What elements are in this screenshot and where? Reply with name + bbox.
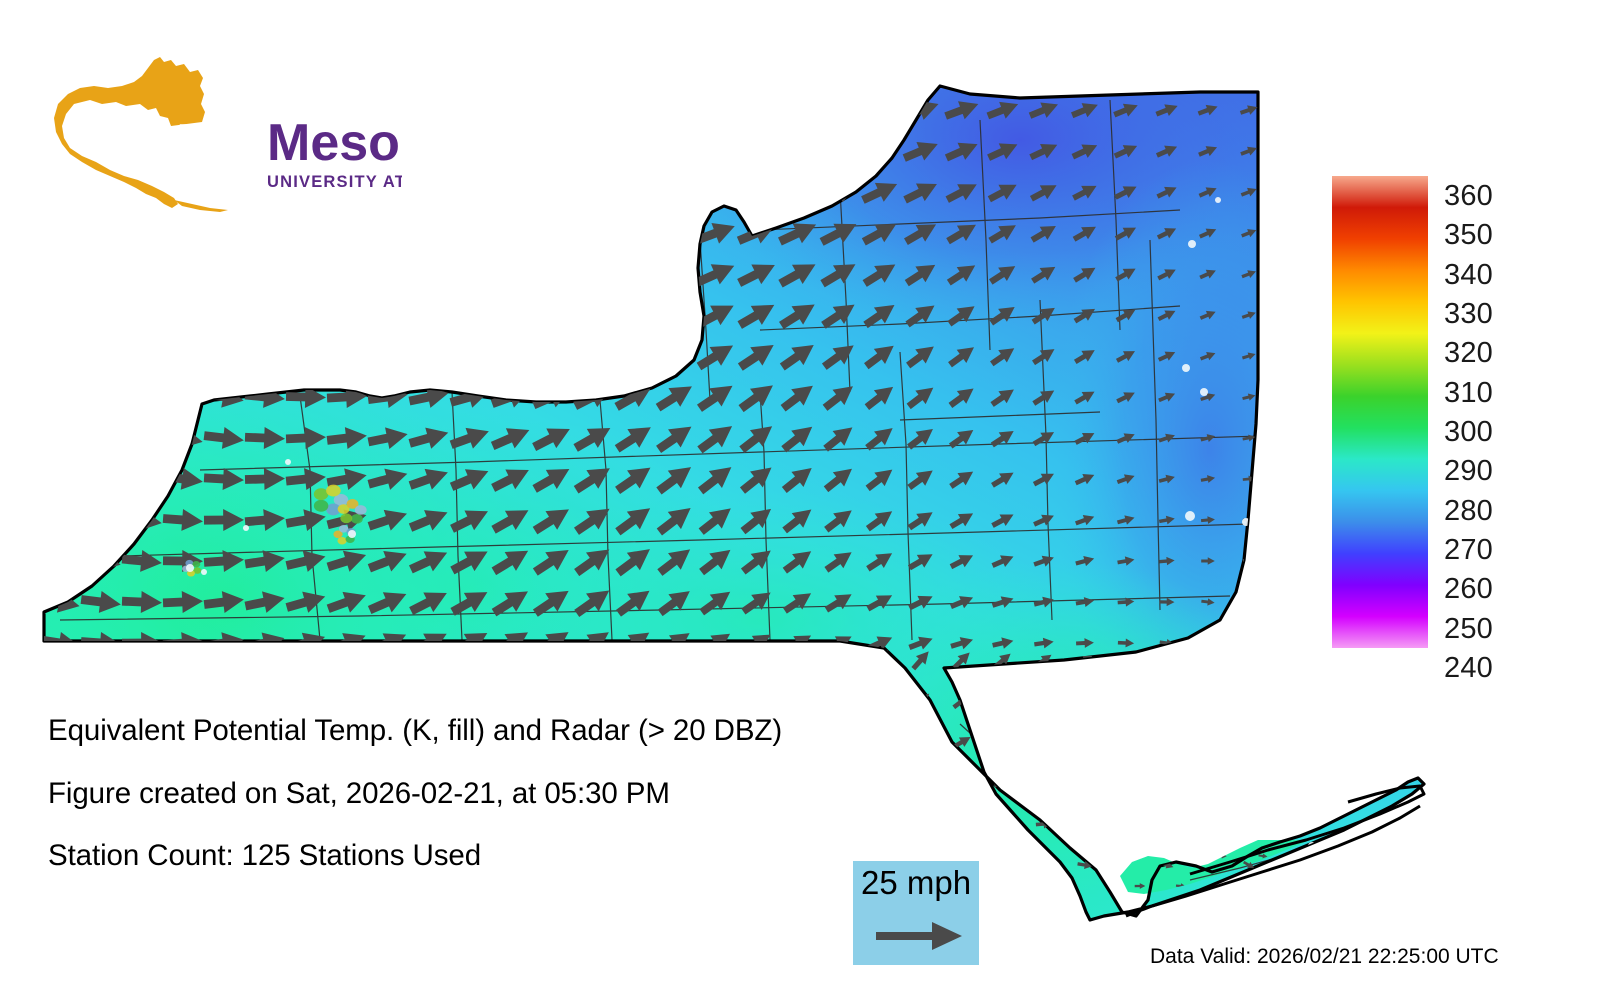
wind-arrow <box>449 97 491 124</box>
wind-arrow <box>612 257 657 290</box>
colorbar-tick-300: 300 <box>1444 418 1493 447</box>
wind-arrow <box>408 342 451 369</box>
radar-echo <box>355 505 367 515</box>
wind-arrow <box>119 256 165 292</box>
wind-arrow <box>78 133 123 169</box>
wind-arrow <box>119 174 164 210</box>
wind-arrow <box>408 221 449 245</box>
wind-arrow <box>776 95 820 126</box>
wind-arrow <box>571 218 614 247</box>
wind-arrow <box>120 380 165 414</box>
wind-arrow <box>489 340 533 372</box>
wind-arrow <box>243 342 286 370</box>
wind-arrow <box>572 179 614 206</box>
wind-arrow <box>409 263 449 285</box>
wind-arrow <box>571 258 615 289</box>
wind-speed-legend: 25 mph <box>853 861 979 965</box>
radar-echo <box>340 513 352 523</box>
wind-arrow <box>1160 696 1175 706</box>
wind-arrow <box>202 299 247 331</box>
wind-arrow <box>531 220 573 247</box>
wind-arrow <box>78 421 123 455</box>
radar-echo <box>326 485 341 497</box>
colorbar: 360350340330320310300290280270260250240 <box>1332 176 1492 650</box>
wind-arrow <box>243 134 288 167</box>
wind-arrow <box>201 175 246 209</box>
wind-arrow <box>1201 655 1215 665</box>
wind-arrow <box>613 138 655 164</box>
radar-echo-light <box>1182 364 1190 372</box>
wind-arrow <box>1159 654 1175 666</box>
wind-arrow <box>994 818 1013 830</box>
wind-arrow <box>1034 693 1054 710</box>
wind-arrow <box>37 296 83 335</box>
wind-arrow <box>325 136 369 167</box>
wind-arrow <box>573 99 613 121</box>
wind-arrow <box>449 262 490 287</box>
wind-arrow <box>78 338 124 375</box>
wind-arrow <box>1118 695 1135 707</box>
wind-arrow <box>119 339 164 374</box>
wind-arrow <box>366 95 410 124</box>
colorbar-tick-240: 240 <box>1444 654 1493 683</box>
wind-arrow <box>78 214 124 252</box>
wind-arrow <box>952 817 972 831</box>
wind-arrow <box>816 134 861 168</box>
wind-arrow <box>1201 819 1215 829</box>
wind-arrow <box>161 340 206 373</box>
wind-arrow <box>1176 853 1186 859</box>
wind-arrow <box>1201 779 1214 788</box>
wind-arrow <box>119 93 164 128</box>
wind-arrow <box>1160 819 1175 829</box>
wind-arrow <box>951 774 973 791</box>
wind-arrow <box>38 503 83 537</box>
wind-arrow <box>367 220 409 247</box>
caption-title: Equivalent Potential Temp. (K, fill) and… <box>48 716 948 746</box>
radar-echo-light <box>1188 240 1196 248</box>
wind-arrow <box>326 260 369 287</box>
wind-arrow <box>325 177 369 207</box>
wind-arrow <box>201 134 246 168</box>
wind-arrow <box>1340 882 1350 890</box>
wind-arrow <box>1076 694 1094 709</box>
wind-arrow <box>1201 638 1215 648</box>
wind-arrow <box>450 222 490 244</box>
radar-echo-light <box>186 564 194 572</box>
colorbar-tick-250: 250 <box>1444 615 1493 644</box>
wind-arrow <box>653 217 698 250</box>
wind-arrow <box>366 136 409 165</box>
figure-canvas: NYS Mesonet UNIVERSITY AT ALBANY <box>0 0 1600 1000</box>
wind-arrow <box>1258 882 1268 889</box>
wind-arrow <box>694 176 739 208</box>
wind-arrow <box>201 216 246 250</box>
wind-arrow <box>1119 779 1134 787</box>
wind-arrow <box>1243 738 1255 746</box>
wind-arrow <box>654 97 696 123</box>
colorbar-tick-340: 340 <box>1444 261 1493 290</box>
wind-arrow <box>695 96 738 124</box>
wind-arrow <box>78 255 124 293</box>
wind-arrow <box>408 303 449 328</box>
wind-arrow <box>160 256 205 291</box>
wind-arrow <box>532 98 573 121</box>
wind-arrow <box>119 215 165 252</box>
wind-arrow <box>408 179 450 205</box>
wind-arrow <box>284 135 328 167</box>
colorbar-tick-labels: 360350340330320310300290280270260250240 <box>1444 176 1564 648</box>
wind-arrow <box>817 94 861 126</box>
wind-arrow <box>1299 882 1309 889</box>
wind-arrow <box>491 181 531 203</box>
wind-arrow <box>161 381 205 412</box>
wind-arrow <box>284 259 328 288</box>
caption-created: Figure created on Sat, 2026-02-21, at 05… <box>48 779 948 809</box>
wind-arrow <box>160 93 205 127</box>
caption-station-count: Station Count: 125 Stations Used <box>48 841 948 871</box>
wind-arrow <box>1340 853 1349 860</box>
radar-echo-light <box>1185 511 1195 521</box>
wind-arrow <box>243 217 288 250</box>
wind-arrow <box>1036 860 1053 870</box>
wind-arrow <box>78 296 124 333</box>
wind-arrow <box>243 94 288 127</box>
colorbar-tick-260: 260 <box>1444 575 1493 604</box>
wind-arrow <box>571 298 616 332</box>
wind-arrow <box>1243 698 1254 704</box>
wind-arrow <box>532 140 572 162</box>
wind-arrow <box>612 217 656 248</box>
wind-arrow <box>1243 598 1256 607</box>
radar-echo-light <box>1179 829 1189 839</box>
wind-arrow <box>37 461 82 496</box>
radar-echo <box>351 514 363 524</box>
wind-arrow <box>530 259 574 288</box>
wind-arrow <box>1076 736 1094 749</box>
wind-arrow <box>202 93 247 126</box>
colorbar-tick-360: 360 <box>1444 182 1493 211</box>
wind-arrow <box>243 300 287 330</box>
wind-arrow <box>160 134 205 169</box>
wind-arrow <box>202 341 246 372</box>
wind-arrow <box>37 214 83 252</box>
radar-echo-light <box>243 525 249 531</box>
radar-echo-light <box>1200 388 1208 396</box>
wind-arrow <box>1034 735 1053 750</box>
wind-arrow <box>1381 852 1390 859</box>
wind-arrow <box>1381 882 1391 890</box>
radar-echo <box>314 500 329 512</box>
wind-arrow <box>1118 819 1133 828</box>
wind-arrow <box>284 176 328 208</box>
wind-arrow <box>491 139 532 163</box>
wind-arrow <box>285 343 327 368</box>
wind-arrow <box>243 175 288 208</box>
wind-arrow <box>1243 779 1256 788</box>
wind-arrow <box>572 139 613 163</box>
wind-arrow <box>992 691 1014 710</box>
wind-arrow <box>652 256 697 291</box>
colorbar-tick-270: 270 <box>1444 536 1493 565</box>
radar-echo-light <box>1215 197 1221 203</box>
colorbar-tick-350: 350 <box>1444 221 1493 250</box>
wind-arrow <box>1077 820 1092 829</box>
radar-echo-light <box>201 569 207 575</box>
wind-arrow <box>694 136 738 166</box>
wind-arrow <box>327 345 367 368</box>
wind-arrow <box>1242 819 1255 829</box>
wind-arrow <box>367 344 408 368</box>
wind-arrow <box>1160 779 1174 787</box>
colorbar-gradient <box>1332 176 1428 648</box>
wind-arrow <box>37 173 83 211</box>
wind-arrow <box>735 175 780 209</box>
wind-arrow <box>366 178 409 206</box>
wind-arrow <box>37 133 83 170</box>
colorbar-tick-280: 280 <box>1444 497 1493 526</box>
wind-arrow <box>449 138 491 164</box>
wind-arrow <box>1160 738 1174 746</box>
wind-arrow <box>612 178 655 207</box>
wind-arrow <box>325 219 368 248</box>
wind-arrow <box>202 257 247 290</box>
wind-legend-arrow-icon <box>876 919 964 953</box>
wind-arrow <box>992 733 1013 750</box>
wind-arrow <box>775 175 820 210</box>
wind-arrow <box>530 299 574 331</box>
wind-arrow <box>1423 852 1432 859</box>
wind-arrow <box>490 221 531 246</box>
radar-echo-light <box>1155 719 1165 729</box>
wind-arrow <box>1118 737 1134 747</box>
colorbar-tick-290: 290 <box>1444 457 1493 486</box>
wind-arrow <box>408 137 451 164</box>
wind-arrow <box>735 135 779 166</box>
wind-arrow <box>284 94 328 126</box>
wind-arrow <box>1422 882 1431 890</box>
wind-arrow <box>1077 778 1093 788</box>
wind-arrow <box>653 177 697 208</box>
wind-arrow <box>78 93 123 128</box>
wind-arrow <box>1202 738 1215 745</box>
wind-arrow <box>529 339 574 373</box>
wind-arrow <box>37 420 82 456</box>
wind-arrow <box>1201 697 1214 705</box>
wind-arrow <box>120 464 164 494</box>
colorbar-tick-320: 320 <box>1444 339 1493 368</box>
wind-arrow <box>490 97 532 122</box>
wind-arrow <box>611 297 656 333</box>
wind-arrow <box>37 92 82 127</box>
colorbar-tick-330: 330 <box>1444 300 1493 329</box>
wind-arrow <box>367 262 408 287</box>
wind-arrow <box>652 297 698 334</box>
wind-arrow <box>79 505 123 536</box>
colorbar-tick-310: 310 <box>1444 379 1493 408</box>
wind-arrow <box>119 297 164 333</box>
wind-arrow <box>326 302 368 327</box>
wind-arrow <box>776 135 821 168</box>
wind-arrow <box>653 137 696 165</box>
radar-echo-light <box>348 530 356 538</box>
wind-arrow <box>407 96 450 124</box>
wind-arrow <box>78 173 124 210</box>
wind-arrow <box>570 338 615 374</box>
thetae-warm-southtier <box>460 490 1060 750</box>
wind-arrow <box>490 260 533 287</box>
wind-arrow <box>995 860 1012 869</box>
wind-arrow <box>867 688 893 714</box>
wind-arrow <box>160 215 205 250</box>
wind-arrow <box>448 341 492 371</box>
wind-arrow <box>449 301 492 328</box>
wind-arrow <box>1242 638 1255 648</box>
data-valid-timestamp: Data Valid: 2026/02/21 22:25:00 UTC <box>1150 946 1499 967</box>
wind-arrow <box>531 180 572 205</box>
wind-arrow <box>37 255 83 294</box>
wind-arrow <box>858 94 902 126</box>
radar-echo <box>337 537 346 545</box>
wind-arrow <box>160 298 205 332</box>
radar-echo-light <box>1377 837 1383 843</box>
wind-arrow <box>284 218 328 249</box>
wind-arrow <box>79 463 124 496</box>
wind-arrow <box>119 133 164 169</box>
wind-arrow <box>735 95 778 124</box>
figure-captions: Equivalent Potential Temp. (K, fill) and… <box>48 716 948 904</box>
wind-arrow <box>325 95 369 126</box>
wind-arrow <box>613 98 654 122</box>
wind-arrow <box>78 379 123 415</box>
wind-arrow <box>1035 777 1053 790</box>
wind-arrow <box>611 337 657 374</box>
wind-arrow <box>449 180 490 204</box>
wind-arrow <box>160 174 205 209</box>
wind-arrow <box>120 422 164 454</box>
wind-arrow <box>38 545 82 577</box>
wind-arrow <box>489 300 533 330</box>
radar-echo-light <box>285 459 291 465</box>
wind-arrow <box>368 304 408 326</box>
wind-arrow <box>285 301 328 329</box>
wind-arrow <box>1243 656 1255 664</box>
wind-arrow <box>37 378 83 415</box>
wind-arrow <box>37 337 83 375</box>
wind-arrow <box>243 258 287 289</box>
wind-legend-label: 25 mph <box>861 865 971 901</box>
